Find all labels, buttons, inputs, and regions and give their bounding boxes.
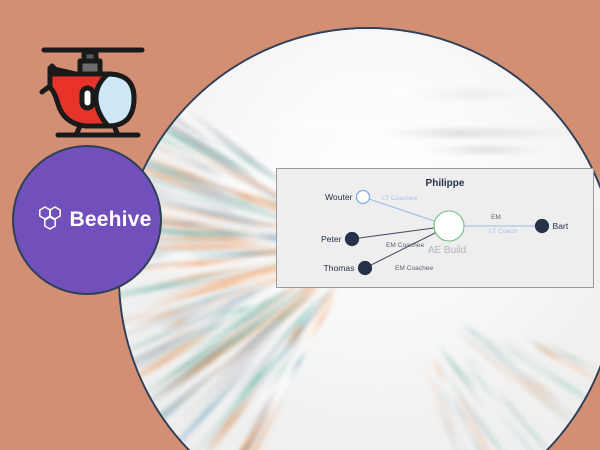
graph-panel-title: Philippe (426, 178, 465, 189)
graph-node-peter[interactable] (346, 233, 359, 246)
helicopter-icon (30, 36, 152, 140)
graph-edge-label: LT Coach (489, 228, 517, 235)
graph-node-bart[interactable] (536, 220, 549, 233)
graph-node-center-label: AE Build (428, 245, 466, 256)
beehive-brand-badge[interactable]: Beehive (12, 145, 162, 295)
graph-node-label-bart: Bart (553, 221, 569, 231)
graph-node-label-wouter: Wouter (325, 192, 353, 202)
graph-node-center[interactable] (434, 211, 464, 241)
graph-node-thomas[interactable] (359, 262, 372, 275)
graph-node-wouter[interactable] (357, 191, 370, 204)
graph-edge-label: EM Coachee (395, 265, 433, 272)
graph-node-label-peter: Peter (321, 234, 342, 244)
graph-edge-label: LT Coachee (382, 195, 418, 202)
graph-node-label-thomas: Thomas (323, 263, 354, 273)
org-graph-svg[interactable]: LT CoacheeEM CoacheeEM CoacheeEMLT Coach… (277, 169, 592, 286)
graph-edge-label: EM (491, 214, 501, 221)
org-graph-panel[interactable]: LT CoacheeEM CoacheeEM CoacheeEMLT Coach… (276, 168, 594, 288)
beehive-label: Beehive (70, 208, 152, 232)
hexagon-cluster-icon (37, 206, 63, 235)
screenshot-stage: Beehive LT CoacheeEM CoacheeEM CoacheeEM… (0, 0, 600, 450)
graph-edge-label: EM Coachee (386, 242, 424, 249)
